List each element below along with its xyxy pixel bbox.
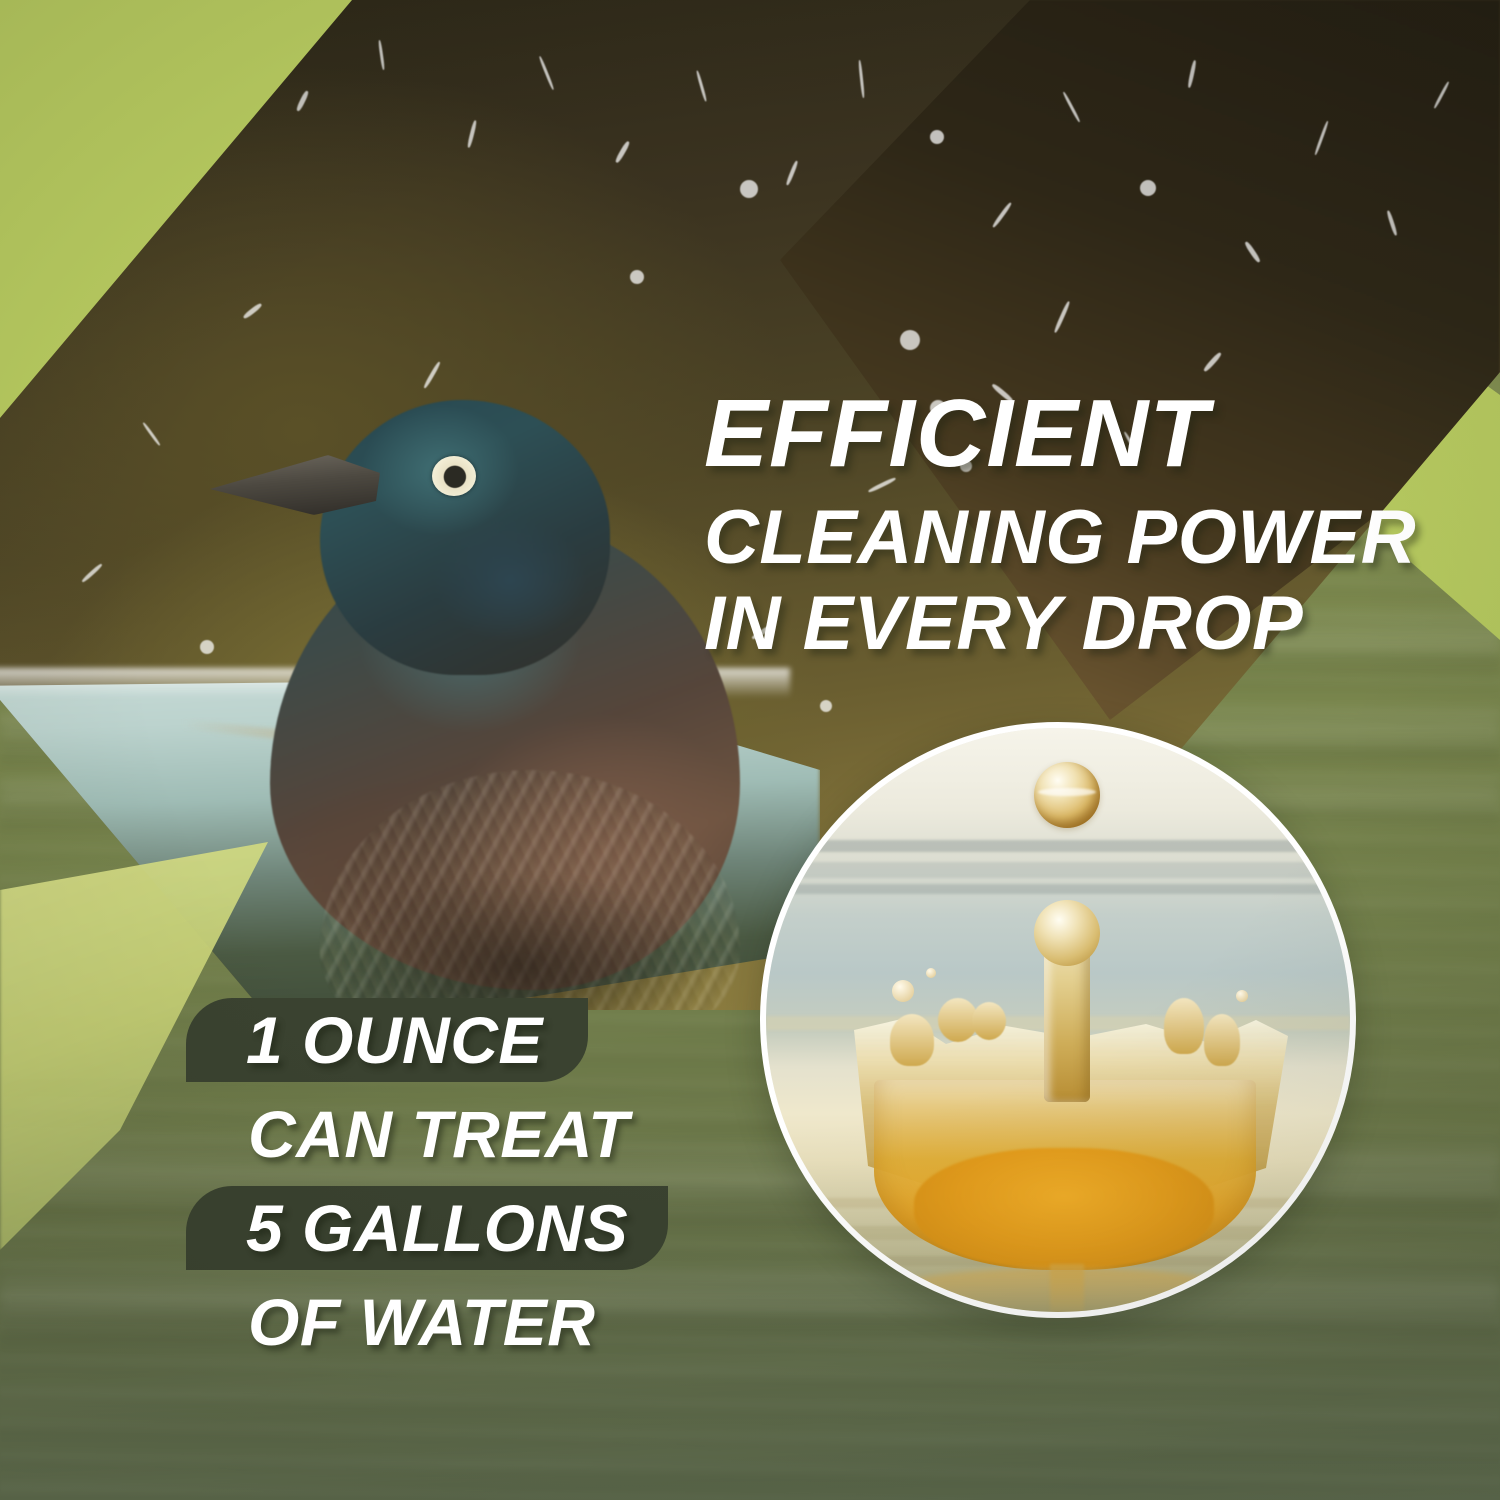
falling-droplet	[1034, 762, 1100, 828]
splash-column-head	[1034, 900, 1100, 966]
stat-row: CAN TREAT	[186, 1088, 726, 1180]
bird-eye	[432, 456, 476, 496]
splash-spike	[1164, 998, 1204, 1054]
headline-line-3: IN EVERY DROP	[704, 586, 1464, 662]
headline-block: EFFICIENT CLEANING POWER IN EVERY DROP	[704, 386, 1464, 662]
micro-droplet	[1236, 990, 1248, 1002]
stat-row: 5 GALLONS	[186, 1182, 726, 1274]
droplet-photo-band	[766, 862, 1350, 878]
stat-row: OF WATER	[186, 1276, 726, 1368]
stat-row: 1 OUNCE	[186, 994, 726, 1086]
droplet-photo-circle	[760, 722, 1356, 1318]
stat-text: 5 GALLONS	[186, 1195, 628, 1261]
headline-line-1: EFFICIENT	[704, 386, 1464, 482]
bird-shadow	[260, 810, 780, 1010]
bird-head	[320, 400, 610, 675]
amber-liquid-pool	[914, 1148, 1214, 1268]
droplet-photo-band	[766, 884, 1350, 894]
stat-text: CAN TREAT	[186, 1101, 629, 1167]
splash-spike	[972, 1002, 1006, 1040]
micro-droplet	[892, 980, 914, 1002]
column-reflection	[1050, 1264, 1084, 1318]
stat-text: OF WATER	[186, 1289, 595, 1355]
micro-droplet	[926, 968, 936, 978]
splash-spike	[890, 1014, 934, 1066]
product-feature-poster: EFFICIENT CLEANING POWER IN EVERY DROP 1…	[0, 0, 1500, 1500]
dosage-stat-block: 1 OUNCE CAN TREAT 5 GALLONS OF WATER	[186, 994, 726, 1370]
droplet-photo-band	[766, 840, 1350, 852]
stat-text: 1 OUNCE	[186, 1007, 543, 1073]
splash-spike	[1204, 1014, 1240, 1066]
headline-line-2: CLEANING POWER	[704, 500, 1464, 576]
